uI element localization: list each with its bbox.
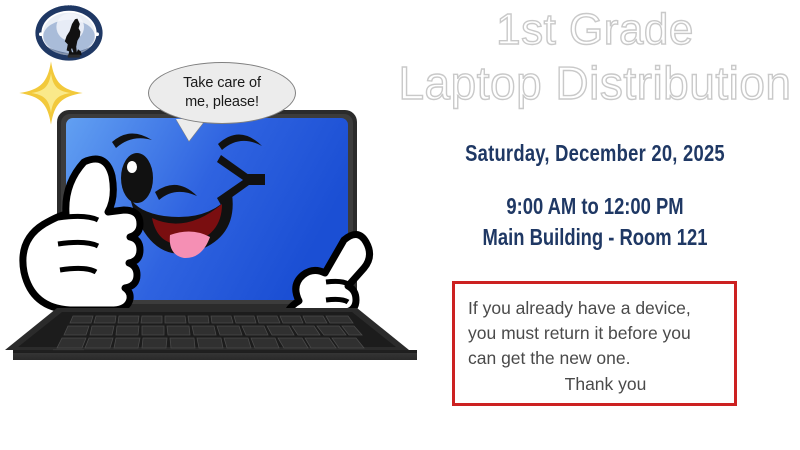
notice-thanks: Thank you bbox=[468, 372, 721, 397]
return-policy-notice: If you already have a device, you must r… bbox=[452, 281, 737, 406]
event-time: 9:00 AM to 12:00 PM bbox=[431, 193, 759, 220]
page-title: 1st Grade Laptop Distribution bbox=[390, 8, 800, 106]
notice-line-1: If you already have a device, bbox=[468, 296, 721, 321]
illustration-pane: THE DR. EMMETT W. BASSETT SCHOOL Take ca… bbox=[0, 0, 420, 450]
keyboard-row bbox=[70, 316, 353, 323]
school-logo: THE DR. EMMETT W. BASSETT SCHOOL bbox=[33, 3, 105, 63]
notice-line-3: can get the new one. bbox=[468, 346, 721, 371]
speech-bubble: Take care of me, please! bbox=[148, 62, 296, 124]
laptop-keyboard-base bbox=[5, 308, 417, 360]
text-pane: 1st Grade Laptop Distribution Saturday, … bbox=[390, 0, 800, 450]
left-eye-icon bbox=[121, 153, 153, 203]
event-details: Saturday, December 20, 2025 9:00 AM to 1… bbox=[390, 140, 800, 251]
poster-canvas: THE DR. EMMETT W. BASSETT SCHOOL Take ca… bbox=[0, 0, 800, 450]
speech-bubble-line-2: me, please! bbox=[185, 93, 259, 112]
speech-bubble-line-1: Take care of bbox=[183, 74, 261, 93]
speech-bubble-text: Take care of me, please! bbox=[148, 62, 296, 124]
bassett-school-seal-icon: THE DR. EMMETT W. BASSETT SCHOOL bbox=[33, 3, 105, 63]
page-title-line-1: 1st Grade bbox=[390, 8, 800, 52]
page-title-line-2: Laptop Distribution bbox=[390, 60, 800, 106]
laptop-mascot bbox=[0, 100, 420, 360]
notice-body: If you already have a device, you must r… bbox=[455, 284, 734, 396]
notice-line-2: you must return it before you bbox=[468, 321, 721, 346]
event-date: Saturday, December 20, 2025 bbox=[431, 140, 759, 167]
event-location: Main Building - Room 121 bbox=[431, 224, 759, 251]
keyboard-row bbox=[57, 338, 364, 348]
